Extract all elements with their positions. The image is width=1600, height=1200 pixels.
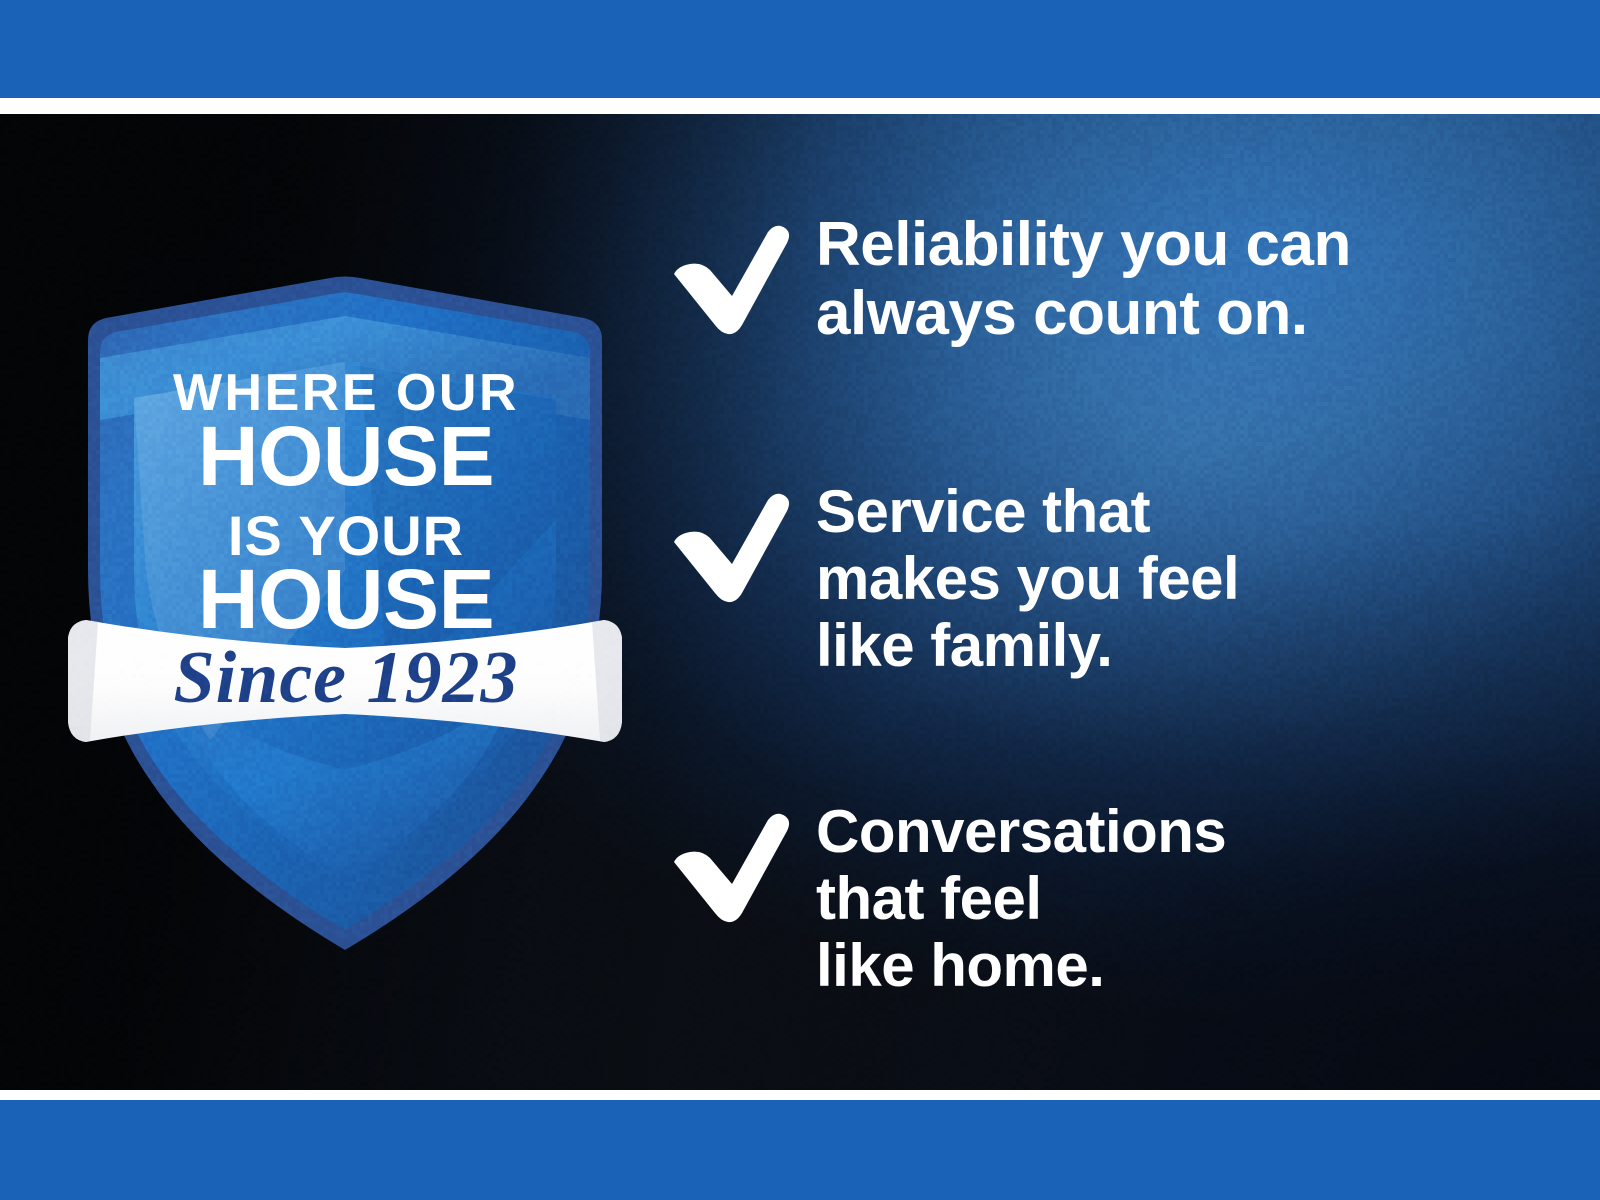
bottom-brand-bar <box>0 1100 1600 1200</box>
shield-line-4: HOUSE <box>198 552 494 646</box>
list-item: Conversations that feel like home. <box>668 798 1568 1000</box>
list-item-text: Reliability you can always count on. <box>816 210 1568 349</box>
main-canvas: WHERE OUR HOUSE IS YOUR HOUSE Since 1923 <box>0 114 1600 1090</box>
top-brand-bar <box>0 0 1600 98</box>
list-item-text: Service that makes you feel like family. <box>816 478 1568 680</box>
shield-line-2: HOUSE <box>198 409 494 503</box>
promo-graphic: WHERE OUR HOUSE IS YOUR HOUSE Since 1923 <box>0 0 1600 1200</box>
list-item: Service that makes you feel like family. <box>668 478 1568 680</box>
ribbon-since-text: Since 1923 <box>173 637 518 719</box>
shield-badge: WHERE OUR HOUSE IS YOUR HOUSE Since 1923 <box>60 270 630 950</box>
bottom-white-divider <box>0 1090 1600 1100</box>
list-item: Reliability you can always count on. <box>668 210 1568 349</box>
checkmark-icon <box>668 798 816 924</box>
checkmark-icon <box>668 210 816 336</box>
checkmark-icon <box>668 478 816 604</box>
list-item-text: Conversations that feel like home. <box>816 798 1568 1000</box>
top-white-divider <box>0 98 1600 114</box>
